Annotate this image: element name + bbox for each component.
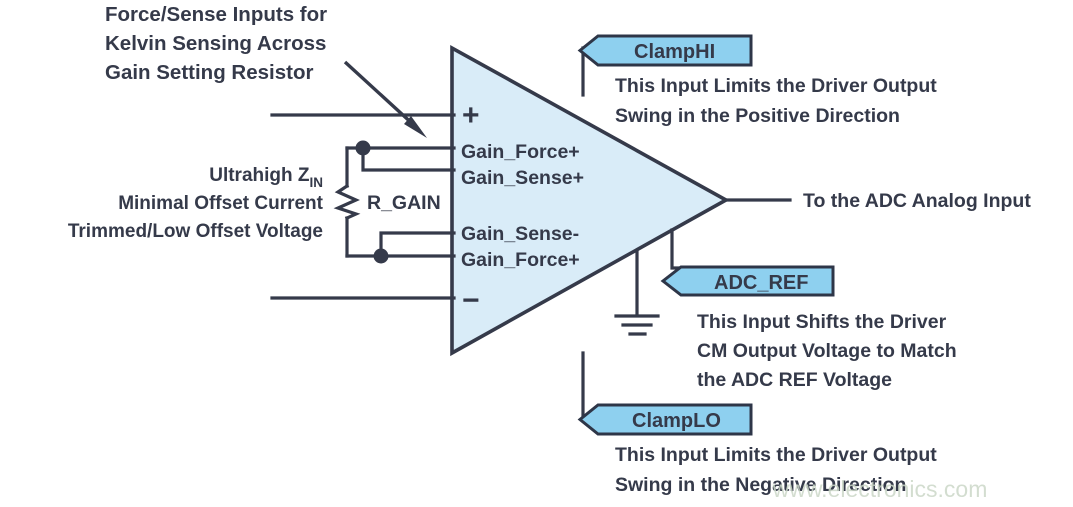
watermark: www.electronics.com [772,476,988,502]
output-label: To the ADC Analog Input [803,190,1031,212]
adc-ref-lead [672,230,680,268]
gain-sense-minus-wire [381,233,454,256]
resistor-label: R_GAIN [367,192,441,214]
adc-ref-body-line-2: CM Output Voltage to Match [697,340,957,362]
clamp-hi-title: ClampHI [634,41,715,63]
noninverting-input-sign: + [462,99,480,132]
ground-symbol-icon [616,252,658,334]
junction-dot-top [356,141,371,156]
pin-label-gain-sense-plus: Gain_Sense+ [461,167,584,189]
left-notes: Ultrahigh ZIN Minimal Offset Current Tri… [68,165,324,242]
op-amp-driver-diagram: Force/Sense Inputs for Kelvin Sensing Ac… [0,0,1073,507]
clamp-hi-body-line-2: Swing in the Positive Direction [615,105,900,127]
left-note-line-3: Trimmed/Low Offset Voltage [68,221,323,242]
junction-dot-bottom [374,249,389,264]
pin-label-gain-sense-minus: Gain_Sense- [461,223,579,245]
heading-line-2: Kelvin Sensing Across [105,32,326,55]
callout-clamp-hi: ClampHI This Input Limits the Driver Out… [580,36,937,127]
heading-line-3: Gain Setting Resistor [105,61,313,84]
left-note-text-1: Ultrahigh Z [209,165,310,186]
pin-label-gain-force-minus: Gain_Force+ [461,249,580,271]
left-note-line-2: Minimal Offset Current [118,193,323,214]
inverting-input-sign: − [462,284,480,317]
adc-ref-body-line-3: the ADC REF Voltage [697,369,892,391]
adc-ref-title: ADC_REF [714,272,808,294]
left-note-line-1: Ultrahigh ZIN [209,165,323,190]
clamp-hi-body-line-1: This Input Limits the Driver Output [615,75,937,97]
pin-label-gain-force-plus: Gain_Force+ [461,141,580,163]
resistor-zigzag-icon [338,186,356,218]
adc-ref-body-line-1: This Input Shifts the Driver [697,311,947,333]
heading-annotation: Force/Sense Inputs for Kelvin Sensing Ac… [105,3,327,84]
heading-line-1: Force/Sense Inputs for [105,3,327,26]
clamp-lo-body-line-1: This Input Limits the Driver Output [615,444,937,466]
clamp-lo-title: ClampLO [632,410,721,432]
gain-sense-plus-wire [363,148,454,170]
left-note-subscript: IN [310,175,324,190]
callout-adc-ref: ADC_REF This Input Shifts the Driver CM … [663,230,957,391]
annotation-arrow-icon [345,62,427,138]
